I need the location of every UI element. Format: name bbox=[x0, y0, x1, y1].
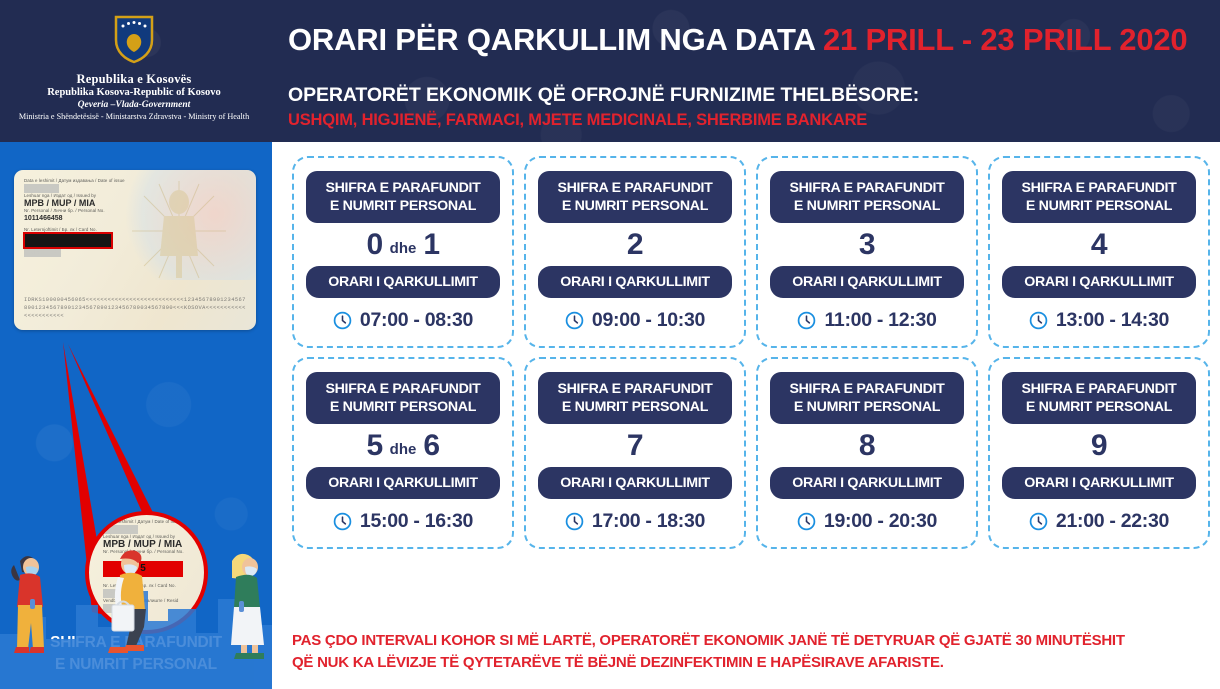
card-schedule-label: ORARI I QARKULLIMIT bbox=[770, 266, 964, 298]
card-digits: 4 bbox=[1091, 223, 1107, 266]
schedule-panel: SHIFRA E PARAFUNDIT E NUMRIT PERSONAL 0 … bbox=[272, 142, 1220, 689]
card-header-line-2: E NUMRIT PERSONAL bbox=[776, 197, 958, 215]
page-title-white-part: ORARI PËR QARKULLIM NGA DATA bbox=[288, 22, 823, 57]
card-time-text: 09:00 - 10:30 bbox=[592, 309, 705, 332]
card-digits: 7 bbox=[627, 424, 643, 467]
subtitle-operators: OPERATORËT EKONOMIK QË OFROJNË FURNIZIME… bbox=[288, 84, 1208, 107]
clock-icon bbox=[797, 512, 816, 531]
card-time-text: 07:00 - 08:30 bbox=[360, 309, 473, 332]
footnote-disinfection-notice: PAS ÇDO INTERVALI KOHOR SI MË LARTË, OPE… bbox=[292, 630, 1212, 674]
card-digit-primary: 7 bbox=[627, 429, 643, 463]
clock-icon bbox=[565, 512, 584, 531]
sidebar-illustration-panel: Data e leshimit / Датум издавања / Date … bbox=[0, 142, 272, 689]
schedule-card[interactable]: SHIFRA E PARAFUNDIT E NUMRIT PERSONAL 7 … bbox=[524, 357, 746, 549]
card-schedule-label: ORARI I QARKULLIMIT bbox=[538, 266, 732, 298]
card-time-text: 11:00 - 12:30 bbox=[824, 309, 936, 332]
government-identity-block: Republika e Kosovës Republika Kosova-Rep… bbox=[0, 14, 268, 123]
id-value-issuer: MPB / MUP / MIA bbox=[24, 199, 164, 208]
card-header-line-2: E NUMRIT PERSONAL bbox=[312, 398, 494, 416]
card-time-row: 21:00 - 22:30 bbox=[1029, 510, 1169, 533]
card-digit-primary: 3 bbox=[859, 228, 875, 262]
footnote-line-1: PAS ÇDO INTERVALI KOHOR SI MË LARTË, OPE… bbox=[292, 630, 1212, 652]
schedule-card[interactable]: SHIFRA E PARAFUNDIT E NUMRIT PERSONAL 8 … bbox=[756, 357, 978, 549]
gov-line-4: Ministria e Shëndetësisë - Ministarstva … bbox=[0, 111, 268, 123]
card-header-pill: SHIFRA E PARAFUNDIT E NUMRIT PERSONAL bbox=[770, 372, 964, 424]
card-header-pill: SHIFRA E PARAFUNDIT E NUMRIT PERSONAL bbox=[1002, 372, 1196, 424]
card-header-pill: SHIFRA E PARAFUNDIT E NUMRIT PERSONAL bbox=[538, 372, 732, 424]
clock-icon bbox=[1029, 311, 1048, 330]
card-header-pill: SHIFRA E PARAFUNDIT E NUMRIT PERSONAL bbox=[306, 171, 500, 223]
card-digits: 8 bbox=[859, 424, 875, 467]
id-value-residence: PRISHTINE bbox=[24, 248, 61, 257]
infographic-page: Republika e Kosovës Republika Kosova-Rep… bbox=[0, 0, 1220, 689]
card-header-line-2: E NUMRIT PERSONAL bbox=[1008, 197, 1190, 215]
footnote-line-2: QË NUK KA LËVIZJE TË QYTETARËVE TË BËJNË… bbox=[292, 652, 1212, 674]
schedule-card[interactable]: SHIFRA E PARAFUNDIT E NUMRIT PERSONAL 5 … bbox=[292, 357, 514, 549]
clock-icon bbox=[333, 311, 352, 330]
card-time-row: 11:00 - 12:30 bbox=[797, 309, 936, 332]
card-schedule-label: ORARI I QARKULLIMIT bbox=[306, 266, 500, 298]
card-digits: 3 bbox=[859, 223, 875, 266]
card-header-line-2: E NUMRIT PERSONAL bbox=[1008, 398, 1190, 416]
card-digit-secondary: 6 bbox=[423, 429, 439, 463]
clock-icon bbox=[565, 311, 584, 330]
gov-line-3: Qeveria –Vlada-Government bbox=[0, 99, 268, 111]
people-and-city-illustration bbox=[0, 539, 272, 689]
card-header-line-1: SHIFRA E PARAFUNDIT bbox=[544, 179, 726, 197]
card-time-row: 17:00 - 18:30 bbox=[565, 510, 705, 533]
card-time-text: 21:00 - 22:30 bbox=[1056, 510, 1169, 533]
schedule-card[interactable]: SHIFRA E PARAFUNDIT E NUMRIT PERSONAL 4 … bbox=[988, 156, 1210, 348]
id-card-image: Data e leshimit / Датум издавања / Date … bbox=[14, 170, 256, 330]
card-header-line-2: E NUMRIT PERSONAL bbox=[776, 398, 958, 416]
card-time-row: 09:00 - 10:30 bbox=[565, 309, 705, 332]
card-digits: 0 dhe 1 bbox=[366, 223, 439, 266]
card-time-text: 13:00 - 14:30 bbox=[1056, 309, 1169, 332]
page-title: ORARI PËR QARKULLIM NGA DATA 21 PRILL - … bbox=[288, 22, 1208, 58]
card-header-pill: SHIFRA E PARAFUNDIT E NUMRIT PERSONAL bbox=[1002, 171, 1196, 223]
card-digit-primary: 0 bbox=[366, 228, 382, 262]
kosovo-coat-of-arms-icon bbox=[113, 14, 155, 64]
page-title-date-range: 21 PRILL - 23 PRILL 2020 bbox=[823, 22, 1188, 57]
card-time-row: 07:00 - 08:30 bbox=[333, 309, 473, 332]
card-time-text: 15:00 - 16:30 bbox=[360, 510, 473, 533]
schedule-card-grid: SHIFRA E PARAFUNDIT E NUMRIT PERSONAL 0 … bbox=[292, 156, 1210, 549]
gov-line-1: Republika e Kosovës bbox=[0, 72, 268, 86]
card-conjunction: dhe bbox=[390, 441, 417, 458]
card-schedule-label: ORARI I QARKULLIMIT bbox=[770, 467, 964, 499]
card-digit-primary: 8 bbox=[859, 429, 875, 463]
card-header-line-1: SHIFRA E PARAFUNDIT bbox=[1008, 380, 1190, 398]
card-time-row: 15:00 - 16:30 bbox=[333, 510, 473, 533]
card-digits: 2 bbox=[627, 223, 643, 266]
card-header-pill: SHIFRA E PARAFUNDIT E NUMRIT PERSONAL bbox=[538, 171, 732, 223]
subtitle-categories: USHQIM, HIGJIENË, FARMACI, MJETE MEDICIN… bbox=[288, 111, 1208, 130]
schedule-card[interactable]: SHIFRA E PARAFUNDIT E NUMRIT PERSONAL 3 … bbox=[756, 156, 978, 348]
card-schedule-label: ORARI I QARKULLIMIT bbox=[538, 467, 732, 499]
card-conjunction: dhe bbox=[390, 240, 417, 257]
card-digit-primary: 5 bbox=[366, 429, 382, 463]
clock-icon bbox=[1029, 512, 1048, 531]
card-schedule-label: ORARI I QARKULLIMIT bbox=[306, 467, 500, 499]
personal-number-highlight-box bbox=[23, 232, 113, 249]
card-header-line-1: SHIFRA E PARAFUNDIT bbox=[776, 380, 958, 398]
card-digit-secondary: 1 bbox=[423, 228, 439, 262]
id-value-personal-number: 1011466458 bbox=[24, 214, 164, 227]
card-digits: 5 dhe 6 bbox=[366, 424, 439, 467]
card-digits: 9 bbox=[1091, 424, 1107, 467]
id-card-mrz-text: IDRKS100000456065<<<<<<<<<<<<<<<<<<<<<<<… bbox=[24, 296, 248, 320]
card-time-text: 19:00 - 20:30 bbox=[824, 510, 937, 533]
card-header-line-1: SHIFRA E PARAFUNDIT bbox=[312, 380, 494, 398]
card-digit-primary: 2 bbox=[627, 228, 643, 262]
card-header-pill: SHIFRA E PARAFUNDIT E NUMRIT PERSONAL bbox=[306, 372, 500, 424]
card-header-line-2: E NUMRIT PERSONAL bbox=[544, 398, 726, 416]
card-header-line-1: SHIFRA E PARAFUNDIT bbox=[1008, 179, 1190, 197]
card-time-row: 13:00 - 14:30 bbox=[1029, 309, 1169, 332]
gov-line-2: Republika Kosova-Republic of Kosovo bbox=[0, 86, 268, 99]
card-header-line-2: E NUMRIT PERSONAL bbox=[312, 197, 494, 215]
card-header-line-1: SHIFRA E PARAFUNDIT bbox=[776, 179, 958, 197]
id-value-date: 13.07.2013 bbox=[24, 184, 59, 193]
card-time-text: 17:00 - 18:30 bbox=[592, 510, 705, 533]
card-header-pill: SHIFRA E PARAFUNDIT E NUMRIT PERSONAL bbox=[770, 171, 964, 223]
card-header-line-1: SHIFRA E PARAFUNDIT bbox=[312, 179, 494, 197]
card-time-row: 19:00 - 20:30 bbox=[797, 510, 937, 533]
person-green-icon bbox=[231, 554, 264, 659]
card-schedule-label: ORARI I QARKULLIMIT bbox=[1002, 266, 1196, 298]
card-digit-primary: 4 bbox=[1091, 228, 1107, 262]
schedule-card[interactable]: SHIFRA E PARAFUNDIT E NUMRIT PERSONAL 9 … bbox=[988, 357, 1210, 549]
header-banner: Republika e Kosovës Republika Kosova-Rep… bbox=[0, 0, 1220, 142]
schedule-card[interactable]: SHIFRA E PARAFUNDIT E NUMRIT PERSONAL 0 … bbox=[292, 156, 514, 348]
card-header-line-2: E NUMRIT PERSONAL bbox=[544, 197, 726, 215]
clock-icon bbox=[797, 311, 816, 330]
schedule-card[interactable]: SHIFRA E PARAFUNDIT E NUMRIT PERSONAL 2 … bbox=[524, 156, 746, 348]
card-digit-primary: 9 bbox=[1091, 429, 1107, 463]
card-schedule-label: ORARI I QARKULLIMIT bbox=[1002, 467, 1196, 499]
card-header-line-1: SHIFRA E PARAFUNDIT bbox=[544, 380, 726, 398]
clock-icon bbox=[333, 512, 352, 531]
